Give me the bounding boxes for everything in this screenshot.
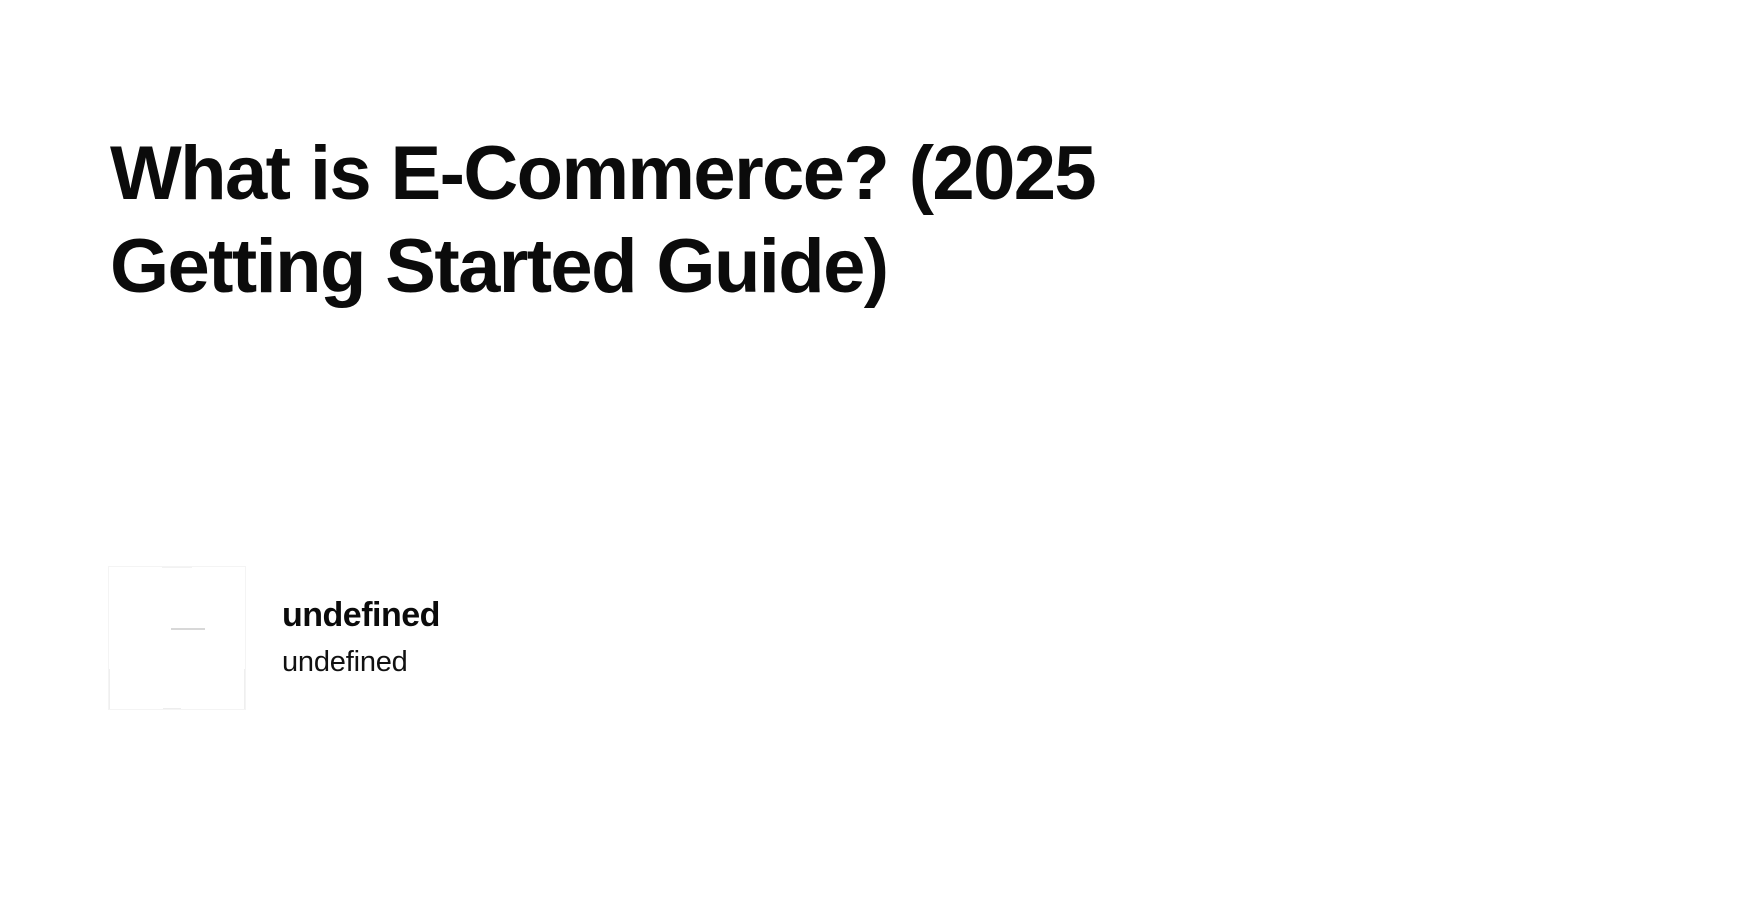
author-meta: undefined [282, 647, 440, 679]
article-page: What is E-Commerce? (2025 Getting Starte… [0, 0, 1760, 920]
avatar-edge-right [244, 669, 245, 709]
article-header: What is E-Commerce? (2025 Getting Starte… [110, 128, 1210, 313]
avatar-edge-left [109, 669, 110, 709]
author-info: undefined undefined [282, 597, 440, 678]
author-name: undefined [282, 597, 440, 634]
avatar-edge-bottom [163, 708, 181, 709]
broken-image-bar-icon [171, 628, 205, 630]
page-title: What is E-Commerce? (2025 Getting Starte… [110, 128, 1210, 313]
byline: undefined undefined [108, 566, 440, 710]
broken-image-icon [162, 567, 192, 568]
avatar [108, 566, 246, 710]
